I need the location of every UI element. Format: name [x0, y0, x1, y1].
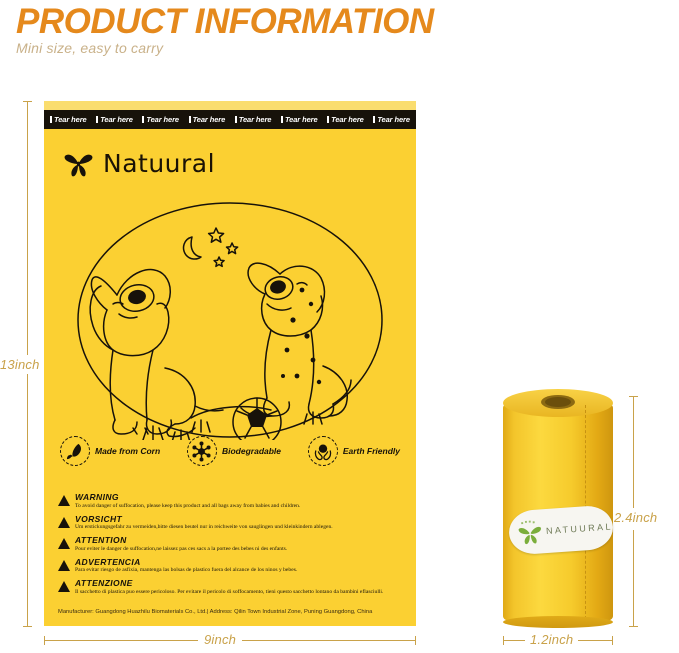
brand-lockup: Natuural — [64, 149, 215, 178]
bag-height-label: 13inch — [0, 355, 40, 374]
grass-tuft — [192, 420, 210, 432]
badge-earth-friendly: Earth Friendly — [308, 436, 400, 466]
feature-badges: Made from Corn — [60, 434, 400, 468]
tear-tick-icon — [142, 116, 144, 123]
tear-tick-icon — [96, 116, 98, 123]
bag-width-cap-left — [44, 636, 45, 645]
star-icon — [214, 257, 224, 266]
tear-tick-icon — [281, 116, 283, 123]
warning-triangle-icon — [58, 538, 70, 549]
brand-name: Natuural — [103, 149, 215, 178]
tear-here-label: Tear here — [193, 115, 226, 124]
poop-bag-roll: NATUURAL — [503, 389, 613, 628]
page-subtitle: Mini size, easy to carry — [16, 40, 163, 56]
manufacturer-info: Manufacturer: Guangdong Huazhilu Biomate… — [58, 609, 406, 616]
tear-here-label: Tear here — [146, 115, 179, 124]
warning-body: Il sacchetto di plastica puo essere peri… — [75, 589, 406, 596]
molecule-icon — [187, 436, 217, 466]
dogs-illustration-svg — [61, 200, 399, 440]
dog-left — [90, 270, 223, 437]
tear-here-label: Tear here — [239, 115, 272, 124]
warning-body: Um erstickungsgefahr zu vermeiden,bitte … — [75, 524, 406, 531]
tear-here-item: Tear here — [96, 115, 133, 124]
badge-label: Made from Corn — [95, 446, 160, 456]
molecule-glyph — [191, 441, 212, 462]
badge-made-from-corn: Made from Corn — [60, 436, 160, 466]
tear-tick-icon — [189, 116, 191, 123]
tear-tick-icon — [327, 116, 329, 123]
warning-triangle-icon — [58, 517, 70, 528]
warning-triangle-icon — [58, 495, 70, 506]
warning-row: ATTENTION Pour eviter le danger de suffo… — [58, 536, 406, 553]
dalmatian-right — [241, 263, 351, 418]
warning-triangle-icon — [58, 560, 70, 571]
tear-here-label: Tear here — [54, 115, 87, 124]
poop-bag-front: Tear here Tear here Tear here Tear here … — [44, 101, 416, 626]
green-leaves-icon — [516, 518, 543, 546]
warning-heading: ATTENTION — [75, 536, 406, 546]
tear-here-label: Tear here — [331, 115, 364, 124]
badge-label: Earth Friendly — [343, 446, 400, 456]
tear-here-item: Tear here — [235, 115, 272, 124]
butterfly-leaf-icon — [64, 150, 94, 178]
warning-body: Pour eviter le danger de suffocation,ne … — [75, 546, 406, 553]
roll-label-text: NATUURAL — [546, 521, 614, 536]
warning-heading: WARNING — [75, 493, 406, 503]
hands-earth-glyph — [313, 441, 333, 461]
page-title: PRODUCT INFORMATION — [16, 2, 434, 42]
star-icon — [226, 243, 237, 254]
corn-glyph — [66, 442, 85, 461]
warning-body: Para evitar riesgo de asfixia, mantenga … — [75, 567, 406, 574]
crescent-moon-icon — [184, 237, 201, 259]
hands-earth-icon — [308, 436, 338, 466]
corn-icon — [60, 436, 90, 466]
roll-bottom-edge — [503, 616, 613, 628]
bag-width-cap-right — [415, 636, 416, 645]
tear-here-strip: Tear here Tear here Tear here Tear here … — [44, 110, 416, 129]
roll-width-cap-left — [503, 636, 504, 645]
badge-label: Biodegradable — [222, 446, 281, 456]
tear-here-label: Tear here — [100, 115, 133, 124]
tear-here-item: Tear here — [281, 115, 318, 124]
badge-biodegradable: Biodegradable — [187, 436, 281, 466]
tear-tick-icon — [373, 116, 375, 123]
warning-body: To avoid danger of suffocation, please k… — [75, 503, 406, 510]
tear-here-label: Tear here — [377, 115, 410, 124]
warning-row: VORSICHT Um erstickungsgefahr zu vermeid… — [58, 515, 406, 532]
warning-row: ADVERTENCIA Para evitar riesgo de asfixi… — [58, 558, 406, 575]
roll-width-cap-right — [612, 636, 613, 645]
two-dogs-circle-illustration — [61, 200, 399, 440]
bag-width-label: 9inch — [198, 632, 242, 647]
tear-here-item: Tear here — [50, 115, 87, 124]
bag-height-cap-top — [23, 101, 32, 102]
roll-height-guide-lower — [633, 530, 634, 626]
tear-here-item: Tear here — [189, 115, 226, 124]
star-icon — [209, 228, 224, 242]
warning-heading: ADVERTENCIA — [75, 558, 406, 568]
roll-height-cap-bottom — [629, 626, 638, 627]
warning-list: WARNING To avoid danger of suffocation, … — [58, 493, 406, 601]
roll-core-hole-inner — [545, 397, 571, 407]
roll-height-cap-top — [629, 396, 638, 397]
tear-tick-icon — [50, 116, 52, 123]
bag-top-rim — [44, 101, 416, 110]
tear-here-item: Tear here — [142, 115, 179, 124]
warning-heading: ATTENZIONE — [75, 579, 406, 589]
product-information-page: PRODUCT INFORMATION Mini size, easy to c… — [0, 0, 679, 653]
tear-tick-icon — [235, 116, 237, 123]
warning-heading: VORSICHT — [75, 515, 406, 525]
tear-here-item: Tear here — [373, 115, 410, 124]
roll-width-label: 1.2inch — [525, 632, 578, 647]
tear-here-item: Tear here — [327, 115, 364, 124]
roll-height-label: 2.4inch — [612, 508, 659, 527]
tear-here-label: Tear here — [285, 115, 318, 124]
bag-height-cap-bottom — [23, 626, 32, 627]
warning-row: ATTENZIONE Il sacchetto di plastica puo … — [58, 579, 406, 596]
roll-height-guide-upper — [633, 396, 634, 524]
warning-row: WARNING To avoid danger of suffocation, … — [58, 493, 406, 510]
warning-triangle-icon — [58, 581, 70, 592]
